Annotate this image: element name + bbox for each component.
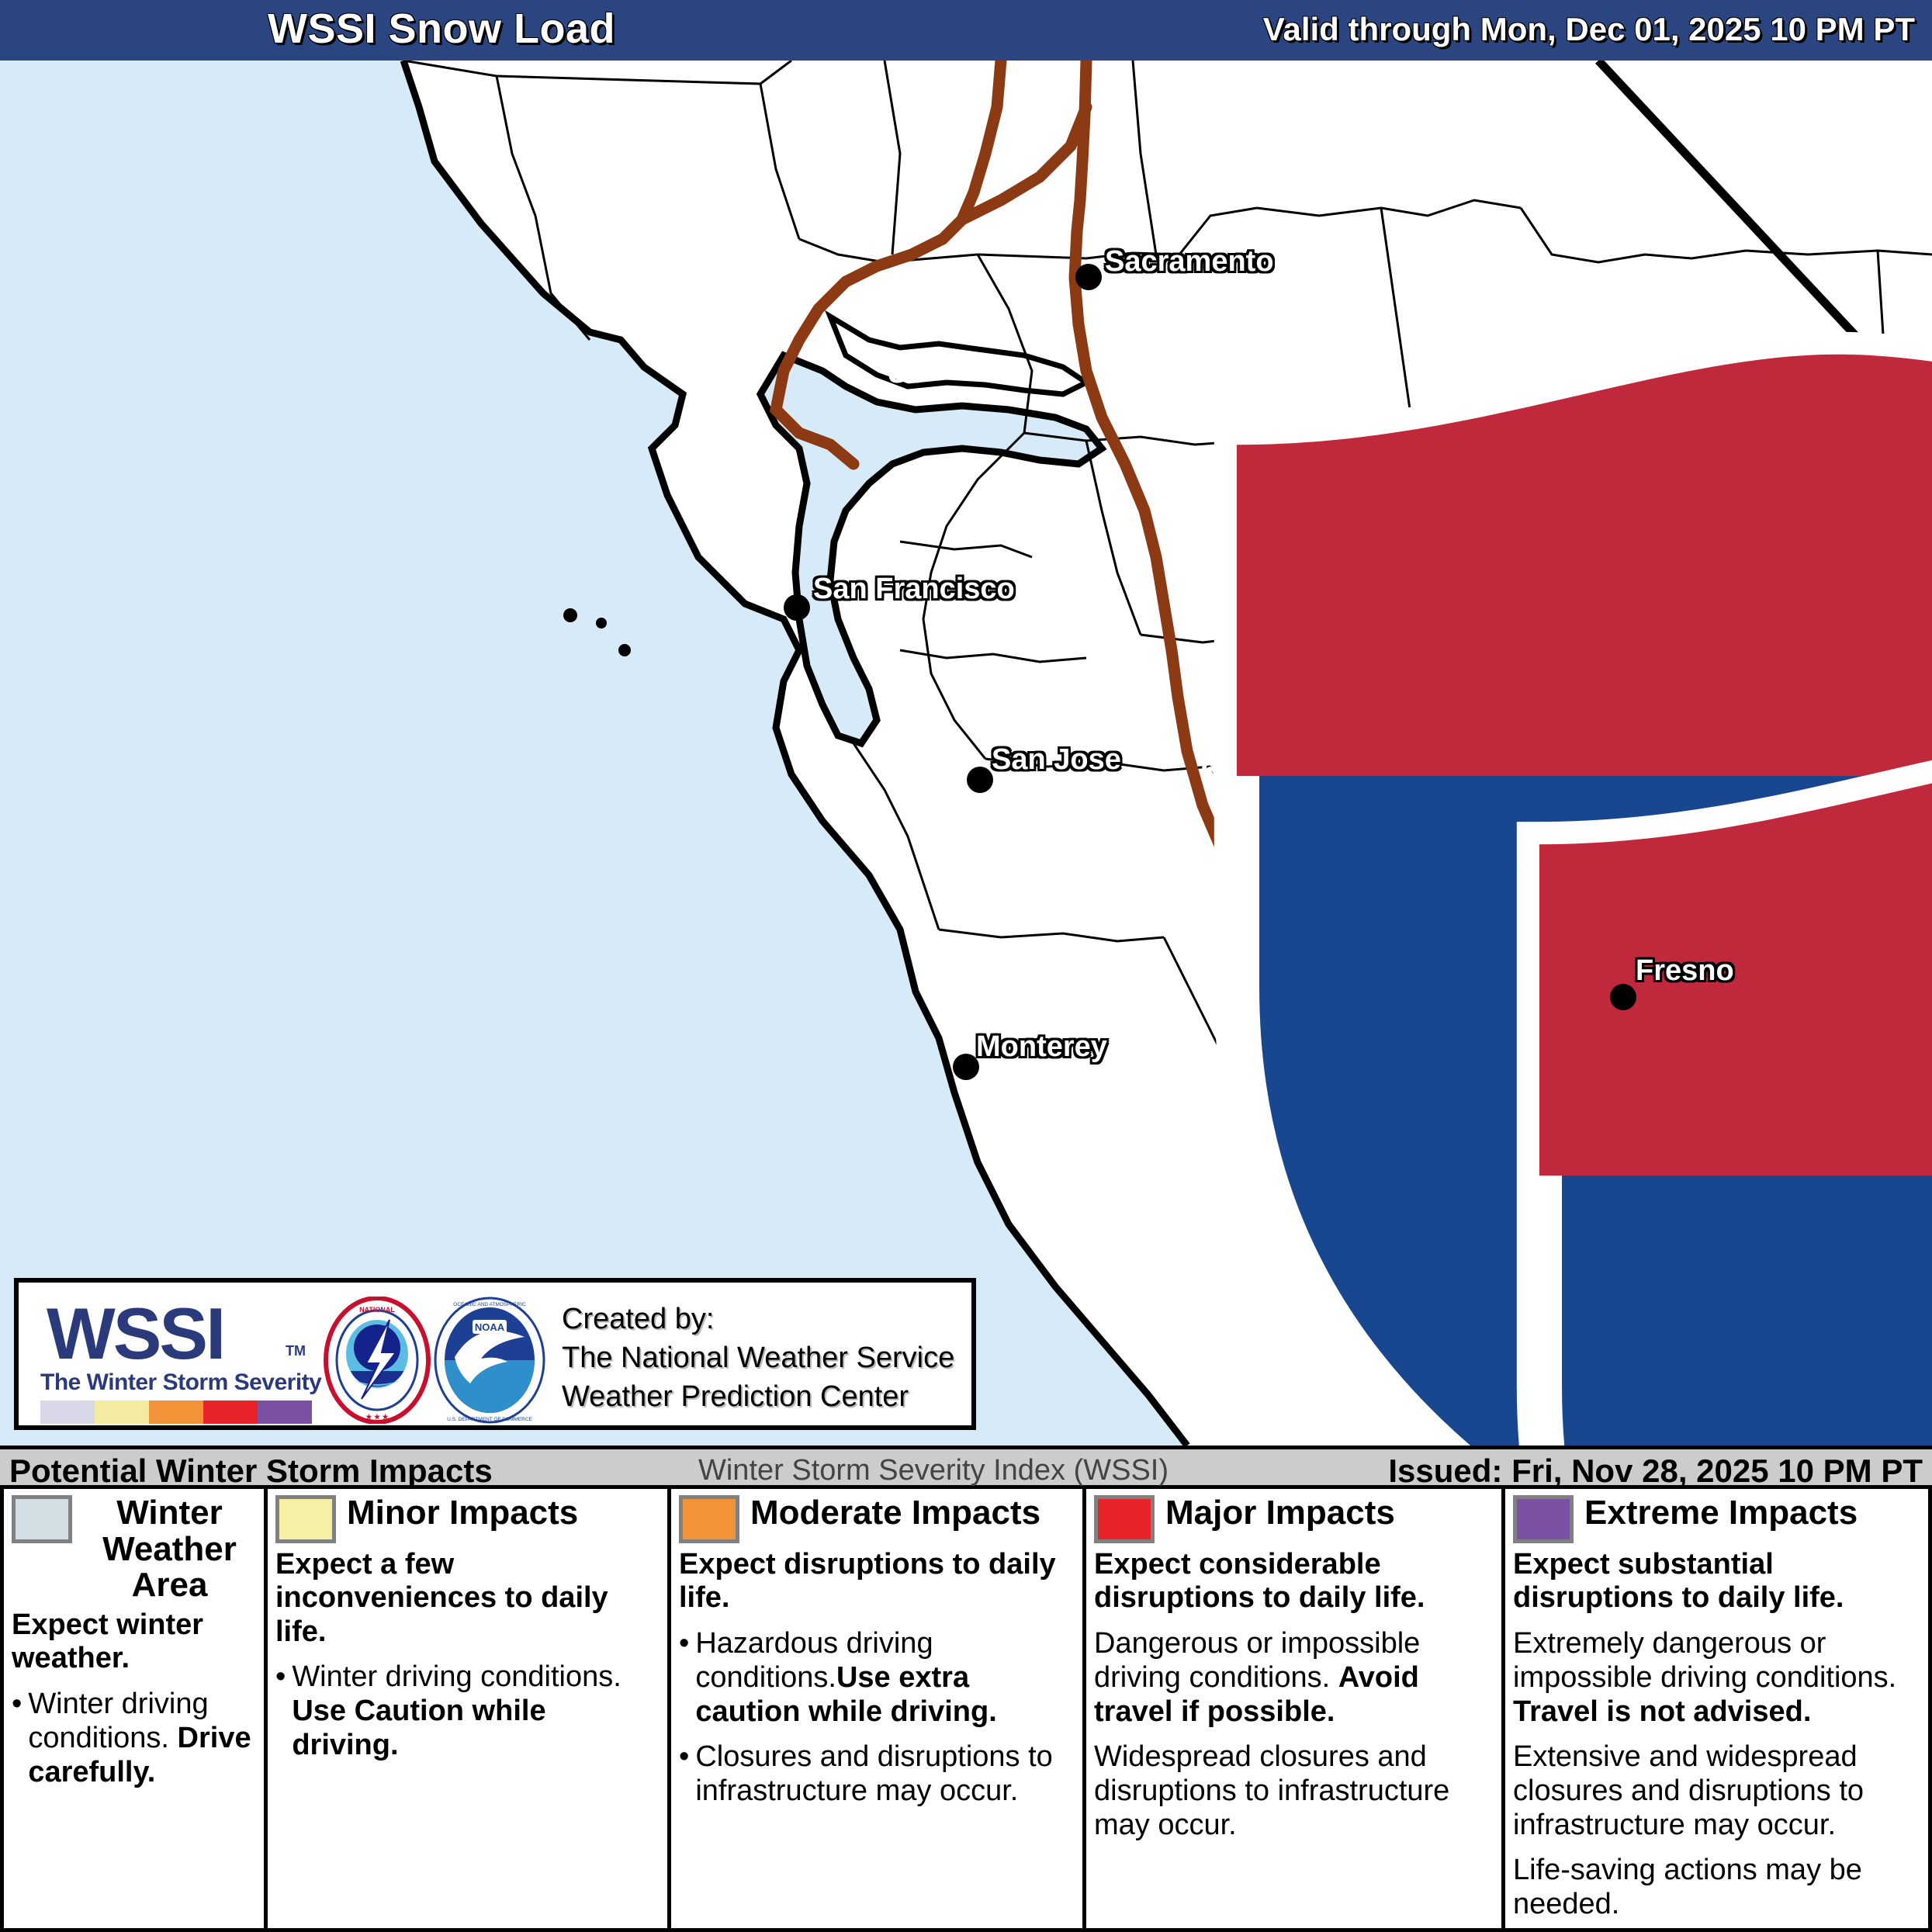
noaa-seal-icon: NOAA OCEANIC AND ATMOSPHERIC U.S. DEPART… (431, 1297, 548, 1424)
legend-title-moderate-impacts: Moderate Impacts (750, 1495, 1040, 1532)
legend-bullet-item: • Winter driving conditions. Drive caref… (12, 1687, 256, 1789)
wssi-trademark: TM (286, 1343, 306, 1359)
strip-middle-subtitle: Winter Storm Severity Index (WSSI) (698, 1454, 1169, 1487)
paragraph-plain: Extensive and widespread closures and di… (1513, 1740, 1864, 1841)
interstate-shield-5: 5 (1175, 724, 1244, 795)
city-label-sacramento: Sacramento (1105, 245, 1274, 279)
legend-swatch-minor-impacts (275, 1495, 336, 1543)
city-dot-san-jose (967, 767, 993, 793)
page-title: WSSI Snow Load (268, 5, 615, 53)
shield-5-number: 5 (1175, 752, 1244, 791)
svg-text:★ ★ ★: ★ ★ ★ (365, 1413, 389, 1421)
city-label-fresno: Fresno (1636, 954, 1734, 988)
shield-5-icon (1175, 724, 1932, 1446)
shield-80-number: 80 (873, 352, 941, 391)
legend-title-winter-weather-area: Winter Weather Area (83, 1495, 256, 1604)
legend-column-major-impacts[interactable]: Major Impacts Expect considerable disrup… (1082, 1489, 1501, 1928)
legend-bullet-item: • Closures and disruptions to infrastruc… (679, 1740, 1075, 1808)
farallon-island (563, 608, 577, 622)
legend-column-minor-impacts[interactable]: Minor Impacts Expect a few inconvenience… (264, 1489, 667, 1928)
legend-column-winter-weather-area[interactable]: Winter Weather Area Expect winter weathe… (4, 1489, 264, 1928)
impact-legend: Winter Weather Area Expect winter weathe… (0, 1489, 1932, 1932)
strip-left-title: Potential Winter Storm Impacts (9, 1452, 493, 1490)
wssi-logo-box: WSSI TM The Winter Storm Severity Index … (14, 1278, 976, 1430)
legend-column-moderate-impacts[interactable]: Moderate Impacts Expect disruptions to d… (667, 1489, 1082, 1928)
legend-bullet-item: • Winter driving conditions. Use Caution… (275, 1660, 660, 1762)
legend-paragraph: Dangerous or impossible driving conditio… (1094, 1626, 1494, 1729)
legend-lead-extreme-impacts: Expect substantial disruptions to daily … (1513, 1548, 1920, 1615)
created-by-line-1: Created by: (562, 1300, 954, 1338)
wssi-wordmark: WSSI (47, 1292, 223, 1376)
legend-header-row: Winter Weather Area (12, 1495, 256, 1604)
legend-lead-major-impacts: Expect considerable disruptions to daily… (1094, 1548, 1494, 1615)
paragraph-bold: Travel is not advised. (1513, 1695, 1811, 1728)
legend-paragraph: Extremely dangerous or impossible drivin… (1513, 1626, 1920, 1729)
bullet-dot-icon: • (275, 1660, 286, 1762)
svg-text:NATIONAL: NATIONAL (359, 1306, 395, 1314)
created-by-block: Created by: The National Weather Service… (562, 1300, 954, 1416)
wssi-snow-load-map-page: WSSI Snow Load Valid through Mon, Dec 01… (0, 0, 1932, 1932)
map-canvas[interactable]: 80 5 Sacramento San Francisco San Jose F… (0, 61, 1932, 1446)
bullet-bold: Use Caution while driving. (292, 1695, 545, 1761)
legend-swatch-major-impacts (1094, 1495, 1155, 1543)
valid-through-text: Valid through Mon, Dec 01, 2025 10 PM PT (1263, 11, 1915, 48)
strip-issued-text: Issued: Fri, Nov 28, 2025 10 PM PT (1388, 1452, 1923, 1490)
legend-swatch-winter-weather-area (12, 1495, 72, 1543)
paragraph-plain: Extremely dangerous or impossible drivin… (1513, 1627, 1896, 1694)
legend-paragraph: Extensive and widespread closures and di… (1513, 1740, 1920, 1842)
city-dot-monterey (953, 1054, 979, 1080)
legend-paragraph: Life-saving actions may be needed. (1513, 1853, 1920, 1921)
legend-header-row: Extreme Impacts (1513, 1495, 1920, 1543)
legend-header-row: Minor Impacts (275, 1495, 660, 1543)
legend-lead-minor-impacts: Expect a few inconveniences to daily lif… (275, 1548, 660, 1649)
bullet-dot-icon: • (12, 1687, 22, 1789)
city-label-monterey: Monterey (976, 1030, 1107, 1064)
created-by-line-2: The National Weather Service (562, 1338, 954, 1377)
interstate-shield-80: 80 (873, 324, 941, 396)
farallon-island-3 (618, 644, 631, 656)
city-label-san-jose: San Jose (992, 743, 1121, 777)
legend-column-extreme-impacts[interactable]: Extreme Impacts Expect substantial disru… (1501, 1489, 1928, 1928)
legend-title-minor-impacts: Minor Impacts (347, 1495, 578, 1532)
bullet-dot-icon: • (679, 1740, 689, 1808)
legend-header-row: Major Impacts (1094, 1495, 1494, 1543)
legend-bullet-item: • Hazardous driving conditions.Use extra… (679, 1626, 1075, 1729)
legend-header-row: Moderate Impacts (679, 1495, 1075, 1543)
legend-title-extreme-impacts: Extreme Impacts (1584, 1495, 1858, 1532)
created-by-line-3: Weather Prediction Center (562, 1377, 954, 1416)
bullet-text: Winter driving conditions. Drive careful… (28, 1687, 256, 1789)
bullet-plain: Winter driving conditions. (292, 1660, 621, 1693)
bullet-text: Closures and disruptions to infrastructu… (695, 1740, 1075, 1808)
legend-swatch-extreme-impacts (1513, 1495, 1574, 1543)
svg-text:U.S. DEPARTMENT OF COMMERCE: U.S. DEPARTMENT OF COMMERCE (447, 1417, 532, 1422)
svg-text:OCEANIC AND ATMOSPHERIC: OCEANIC AND ATMOSPHERIC (453, 1302, 526, 1307)
bullet-dot-icon: • (679, 1626, 689, 1729)
legend-paragraph: Widespread closures and disruptions to i… (1094, 1740, 1494, 1842)
city-label-san-francisco: San Francisco (813, 573, 1015, 606)
paragraph-plain: Life-saving actions may be needed. (1513, 1854, 1862, 1920)
city-dot-fresno (1610, 984, 1636, 1010)
city-dot-sacramento (1075, 264, 1102, 290)
national-weather-service-seal-icon: NATIONAL ★ ★ ★ (323, 1297, 431, 1424)
legend-lead-winter-weather-area: Expect winter weather. (12, 1608, 256, 1676)
legend-title-major-impacts: Major Impacts (1165, 1495, 1395, 1532)
wssi-color-bar (40, 1401, 312, 1424)
svg-text:NOAA: NOAA (475, 1321, 505, 1333)
legend-lead-moderate-impacts: Expect disruptions to daily life. (679, 1548, 1075, 1615)
paragraph-plain: Widespread closures and disruptions to i… (1094, 1740, 1449, 1841)
impacts-strip: Potential Winter Storm Impacts Winter St… (0, 1446, 1932, 1489)
page-header: WSSI Snow Load Valid through Mon, Dec 01… (0, 0, 1932, 61)
city-dot-san-francisco (784, 594, 810, 621)
bullet-plain: Closures and disruptions to infrastructu… (695, 1740, 1052, 1807)
legend-swatch-moderate-impacts (679, 1495, 739, 1543)
farallon-island-2 (596, 618, 607, 628)
bullet-text: Hazardous driving conditions.Use extra c… (695, 1626, 1075, 1729)
bullet-text: Winter driving conditions. Use Caution w… (292, 1660, 660, 1762)
